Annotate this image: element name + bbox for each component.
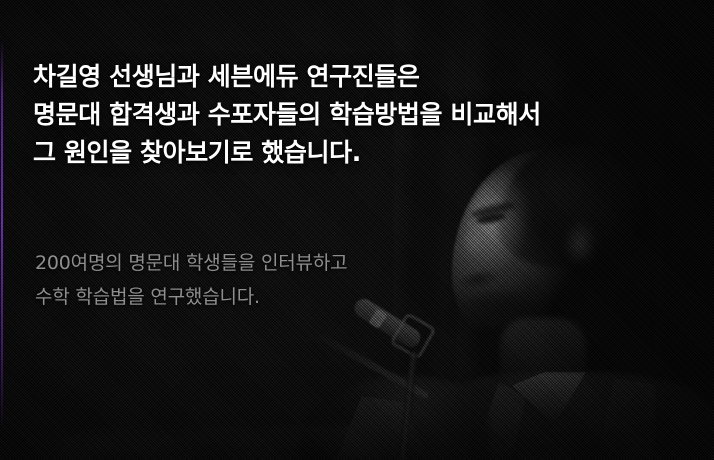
presentation-slide: 차길영 선생님과 세븐에듀 연구진들은 명문대 합격생과 수포자들의 학습방법을… xyxy=(0,0,714,460)
slide-copy: 차길영 선생님과 세븐에듀 연구진들은 명문대 합격생과 수포자들의 학습방법을… xyxy=(0,0,714,460)
headline-text: 차길영 선생님과 세븐에듀 연구진들은 명문대 합격생과 수포자들의 학습방법을… xyxy=(33,58,673,172)
subcopy-text: 200여명의 명문대 학생들을 인터뷰하고 수학 학습법을 연구했습니다. xyxy=(35,246,595,314)
